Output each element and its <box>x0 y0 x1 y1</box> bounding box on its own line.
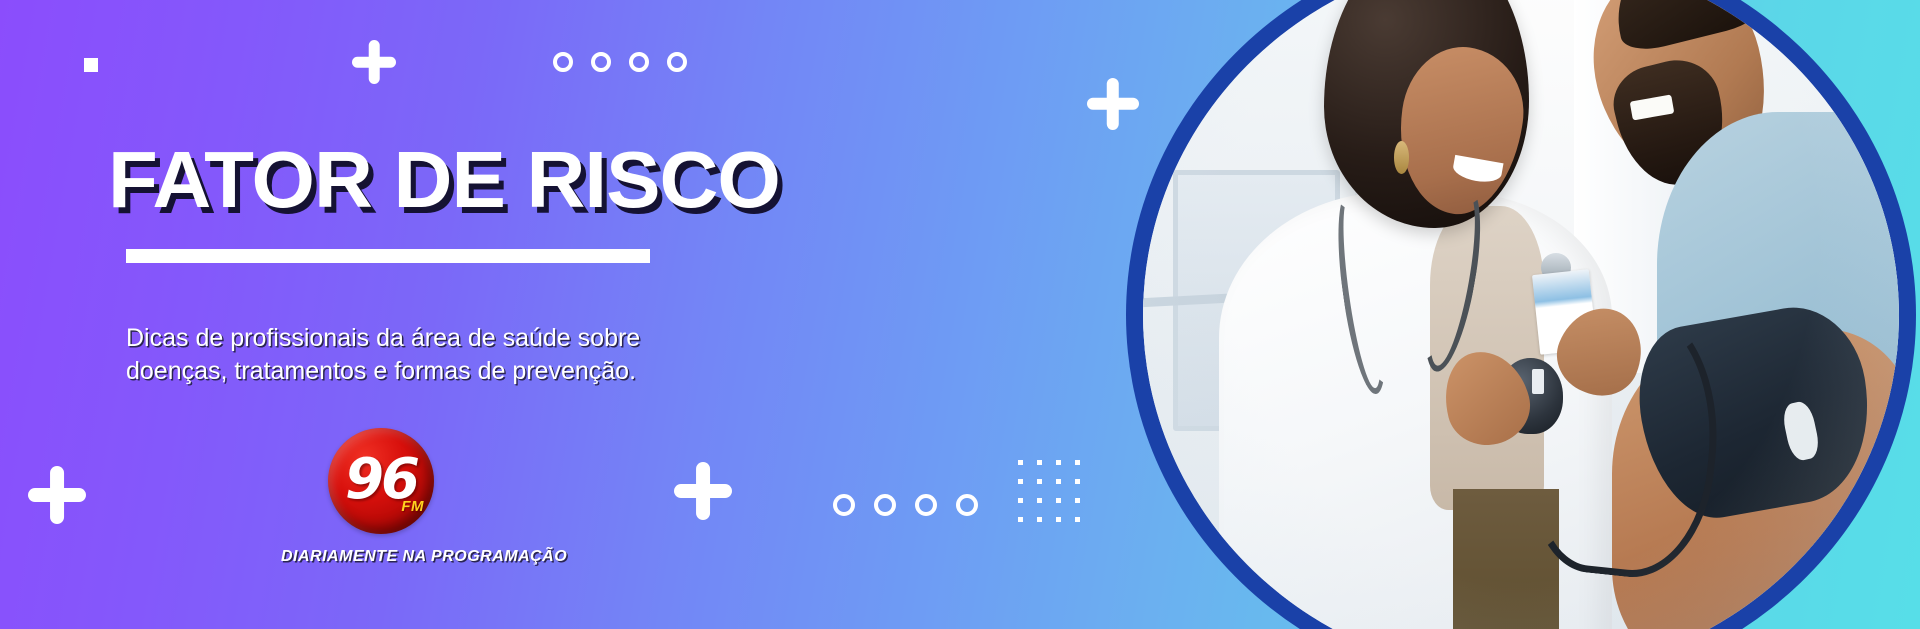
radio-96fm-logo: 96 FM <box>328 428 434 534</box>
dot-grid-icon <box>1018 460 1080 522</box>
logo-caption: DIARIAMENTE NA PROGRAMAÇÃO <box>281 548 481 566</box>
title-underline-rule <box>126 249 650 263</box>
banner-text-column: FATOR DE RISCO Dicas de profissionais da… <box>0 0 900 629</box>
ring-outline-icon <box>956 494 978 516</box>
station-logo-block: 96 FM DIARIAMENTE NA PROGRAMAÇÃO <box>281 428 481 566</box>
plus-icon <box>1087 78 1139 130</box>
doctor-patient-photo <box>1143 0 1899 629</box>
health-campaign-banner: FATOR DE RISCO Dicas de profissionais da… <box>0 0 1920 629</box>
ring-outline-icon <box>915 494 937 516</box>
logo-fm-suffix: FM <box>401 499 424 514</box>
banner-subtitle: Dicas de profissionais da área de saúde … <box>126 322 726 387</box>
page-title: FATOR DE RISCO <box>108 140 780 220</box>
photo-scene <box>1143 0 1899 629</box>
bp-bulb-valve <box>1532 369 1544 394</box>
circular-photo-frame <box>1126 0 1916 629</box>
doctor-earring <box>1394 141 1409 174</box>
